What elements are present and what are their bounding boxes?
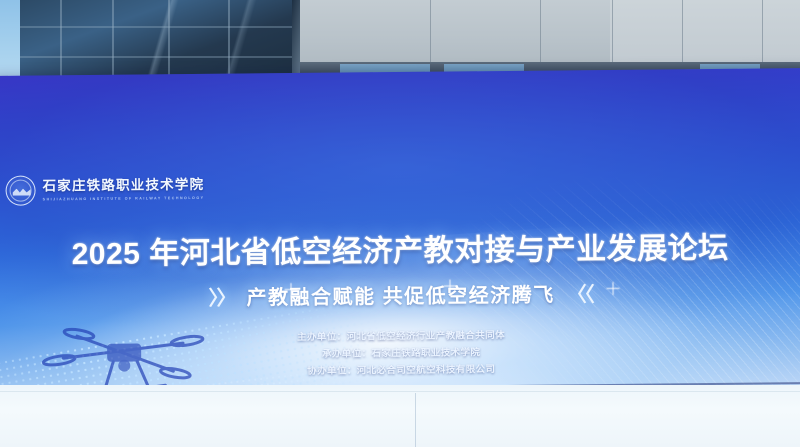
chevron-right-icon: 〉〉 [208,282,234,311]
university-name-cn: 石家庄铁路职业技术学院 [42,178,204,194]
chevron-left-icon: 〈〈 [566,278,592,307]
forum-subtitle: 产教融合赋能 共促低空经济腾飞 [246,279,554,311]
event-backdrop-photo: 石家庄铁路职业技术学院 SHIJIAZHUANG INSTITUTE OF RA… [0,0,800,447]
window-mullion [112,0,114,84]
window-mullion [228,0,230,84]
organizer-list: 主办单位：河北省低空经济行业产教融合共同体 承办单位：石家庄铁路职业技术学院 协… [0,324,800,383]
floor-seam [0,391,800,392]
forum-backdrop-banner: 石家庄铁路职业技术学院 SHIJIAZHUANG INSTITUTE OF RA… [0,68,800,396]
university-seal-icon [5,175,35,205]
university-name-en: SHIJIAZHUANG INSTITUTE OF RAILWAY TECHNO… [43,195,205,201]
forum-title: 2025 年河北省低空经济产教对接与产业发展论坛 [0,222,800,274]
window-transom [20,26,320,28]
glass-curtain-wall [20,0,320,84]
window-transom [20,56,320,58]
floor-surface [0,385,800,447]
window-mullion [60,0,62,84]
window-mullion [168,0,170,84]
floor-seam [415,393,416,447]
university-logo-lockup: 石家庄铁路职业技术学院 SHIJIAZHUANG INSTITUTE OF RA… [5,174,204,206]
